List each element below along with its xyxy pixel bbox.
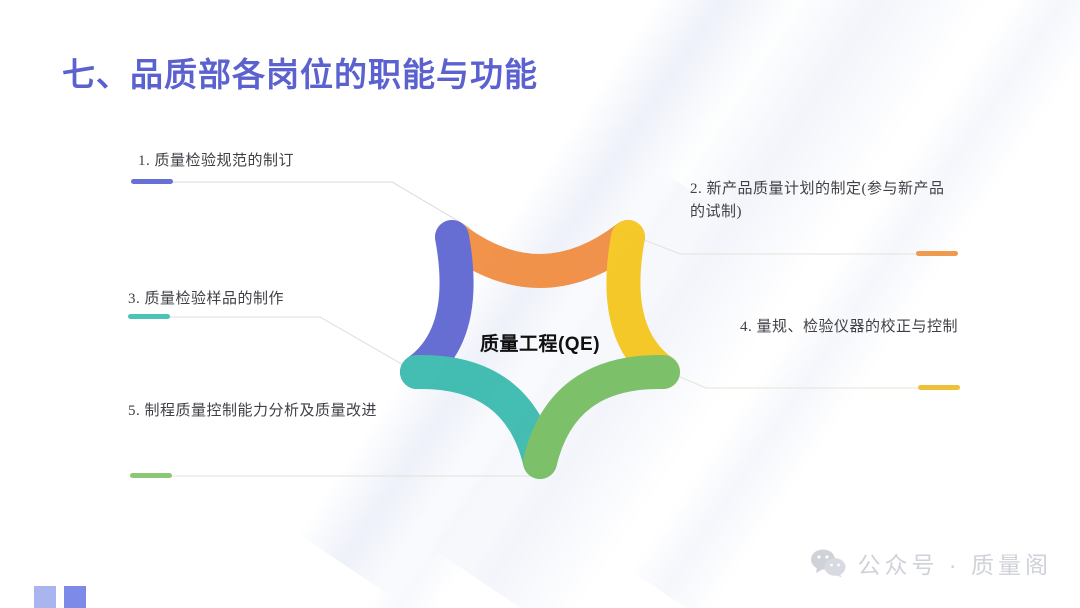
slide-canvas: 七、品质部各岗位的职能与功能 质量工程 (0, 0, 1080, 608)
quality-engineering-wheel (390, 200, 690, 485)
connector-line-3 (132, 317, 412, 370)
connector-line-4 (664, 370, 952, 388)
petal-yellow (623, 237, 663, 372)
wechat-icon (810, 548, 846, 578)
item-label-2: 2. 新产品质量计划的制定(参与新产品的试制) (690, 178, 958, 225)
footer-brand-text: 公众号 · 质量阁 (858, 546, 1052, 580)
petal-teal (417, 372, 540, 462)
item-label-1: 1. 质量检验规范的制订 (138, 150, 438, 173)
connector-accent-4 (918, 385, 960, 390)
connector-accent-3 (128, 314, 170, 319)
petal-green (540, 372, 663, 462)
item-label-3: 3. 质量检验样品的制作 (128, 288, 428, 311)
item-label-5: 5. 制程质量控制能力分析及质量改进 (128, 400, 418, 423)
item-label-4: 4. 量规、检验仪器的校正与控制 (680, 316, 958, 339)
connector-accent-1 (131, 179, 173, 184)
connector-accent-5 (130, 473, 172, 478)
petal-orange (452, 237, 628, 271)
decorative-square (64, 586, 86, 608)
decorative-square (34, 586, 56, 608)
footer-brand: 公众号 · 质量阁 (810, 546, 1052, 580)
connector-accent-2 (916, 251, 958, 256)
